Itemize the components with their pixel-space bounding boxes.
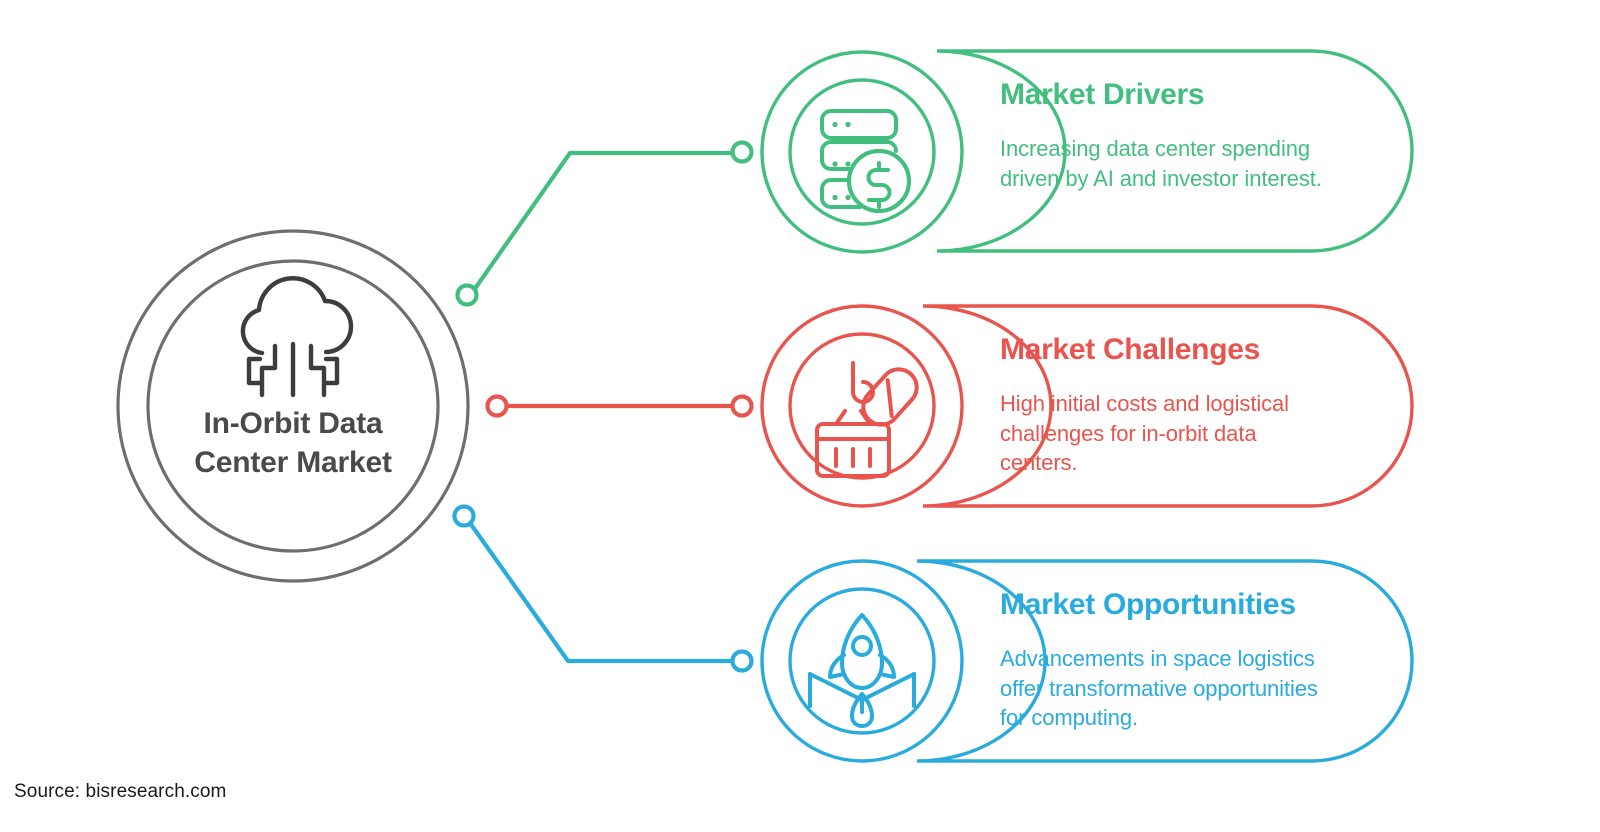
source-note: Source: bisresearch.com — [14, 781, 226, 803]
card-text-market-opportunities: Market Opportunities Advancements in spa… — [1000, 588, 1330, 733]
connector-market-opportunities — [455, 507, 752, 671]
card-heading-market-opportunities: Market Opportunities — [1000, 588, 1330, 622]
connector-market-challenges — [488, 397, 752, 416]
connector-node-card-opportunities — [733, 652, 752, 671]
connector-node-hub-opportunities — [455, 507, 474, 526]
connector-market-drivers — [458, 143, 752, 305]
connector-node-card-challenges — [733, 397, 752, 416]
cloud-computing-icon — [243, 278, 351, 395]
card-body-market-challenges: High initial costs and logistical challe… — [1000, 389, 1330, 478]
hub-title: In-Orbit Data Center Market — [148, 404, 438, 482]
infographic-canvas: In-Orbit Data Center Market Market Drive… — [0, 0, 1600, 832]
hub-title-line-1: In-Orbit Data — [148, 404, 438, 443]
card-heading-market-challenges: Market Challenges — [1000, 333, 1330, 367]
icon-outer-ring-opportunities — [762, 561, 962, 761]
card-body-market-drivers: Increasing data center spending driven b… — [1000, 134, 1330, 193]
card-text-market-drivers: Market Drivers Increasing data center sp… — [1000, 78, 1330, 193]
card-text-market-challenges: Market Challenges High initial costs and… — [1000, 333, 1330, 478]
connector-node-hub-drivers — [458, 286, 477, 305]
icon-outer-ring-drivers — [762, 52, 962, 252]
hub-title-line-2: Center Market — [148, 443, 438, 482]
card-heading-market-drivers: Market Drivers — [1000, 78, 1330, 112]
connector-node-hub-challenges — [488, 397, 507, 416]
card-body-market-opportunities: Advancements in space logistics offer tr… — [1000, 644, 1330, 733]
connector-node-card-drivers — [733, 143, 752, 162]
